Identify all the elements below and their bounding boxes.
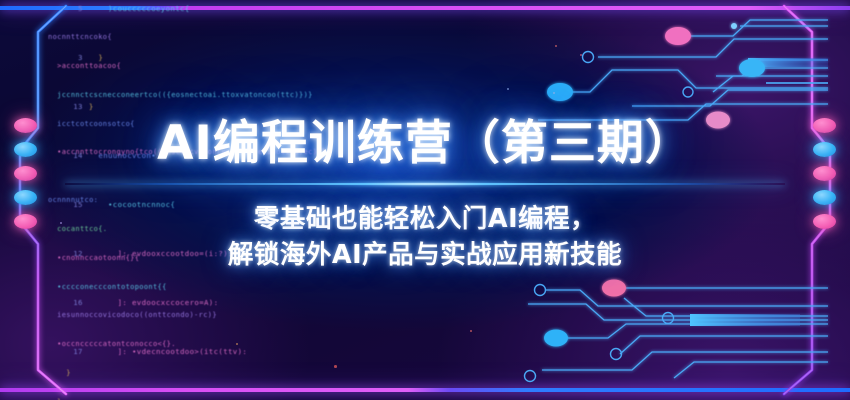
page-title: AI编程训练营（第三期） — [0, 118, 850, 171]
particle-dot — [470, 330, 472, 332]
code-line-number: 5 — [67, 4, 83, 14]
particle-dot — [507, 88, 509, 90]
particle-dot — [334, 365, 337, 368]
page-subtitle: 零基础也能轻松入门AI编程， 解锁海外AI产品与实战应用新技能 — [0, 201, 850, 273]
code-line-number: 3 — [67, 53, 83, 63]
code-line-text: ]: •vdecncootdoo>(itc(ttv): — [89, 347, 247, 356]
code-line-text: } — [89, 102, 94, 111]
headline-block: AI编程训练营（第三期） 零基础也能轻松入门AI编程， 解锁海外AI产品与实战应… — [0, 118, 850, 273]
subtitle-line-2: 解锁海外AI产品与实战应用新技能 — [0, 237, 850, 273]
particle-dot — [555, 45, 557, 47]
particle-dot — [580, 54, 582, 56]
code-line-text: )coucccccoeyontc{ — [89, 4, 190, 13]
code-line-text: ]: evdoocxccocero=A): — [89, 298, 219, 307]
divider-glow-core — [310, 181, 540, 187]
code-line-number: 13 — [67, 102, 83, 112]
code-line-number: 17 — [67, 347, 83, 357]
particle-dot — [236, 343, 238, 345]
code-line-text: } — [89, 53, 103, 62]
code-line-number: 16 — [67, 298, 83, 308]
title-divider — [0, 180, 850, 188]
promo-poster: nocnnttcncoko{ >acconttoacoo{ jccnnctcsc… — [0, 0, 850, 400]
particle-dot — [553, 92, 555, 94]
subtitle-line-1: 零基础也能轻松入门AI编程， — [0, 201, 850, 237]
